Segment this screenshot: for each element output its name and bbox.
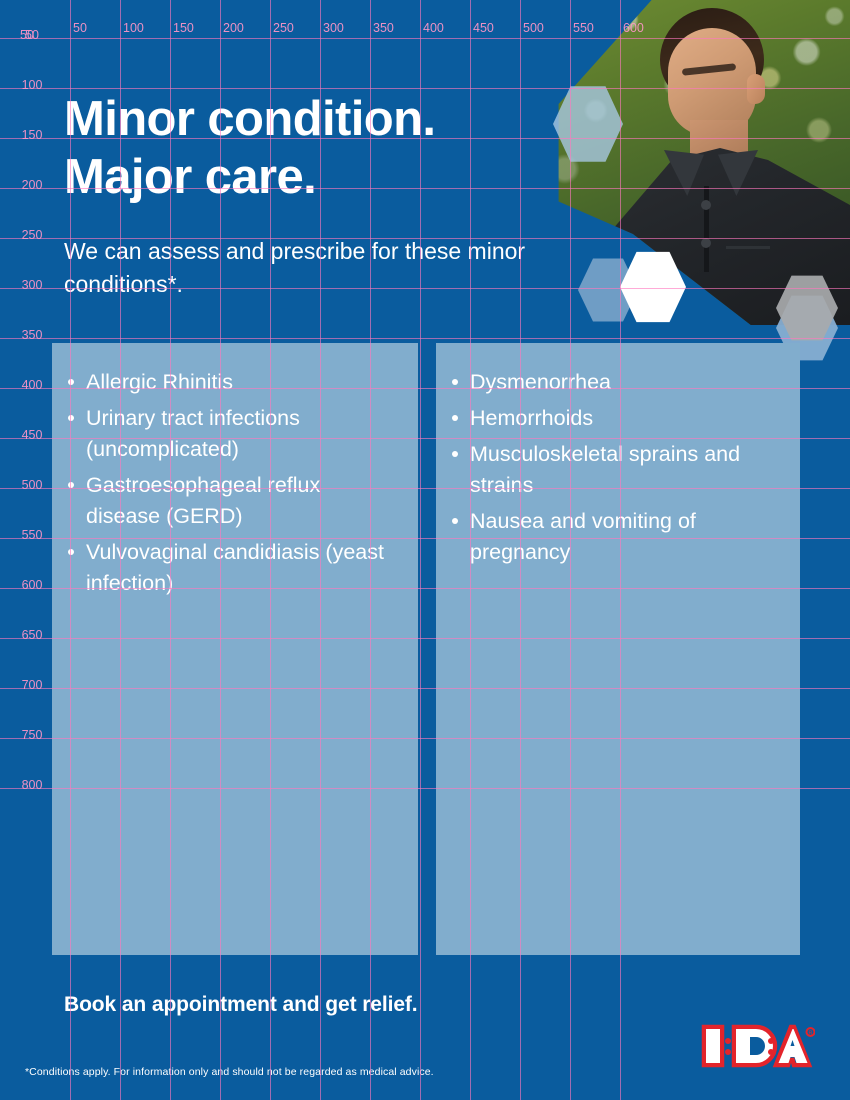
list-item: Gastroesophageal reflux disease (GERD) [66,470,400,532]
condition-label: Musculoskeletal sprains and strains [470,442,740,497]
grid-tick-y: 200 [22,178,43,192]
headline-line-1: Minor condition. [64,92,435,146]
list-item: Hemorrhoids [450,403,782,434]
list-item: Allergic Rhinitis [66,367,400,398]
shirt-button-bottom [701,238,711,248]
bullet-icon [452,451,458,457]
grid-tick-y: 400 [22,378,43,392]
list-item: Urinary tract infections (uncomplicated) [66,403,400,465]
grid-tick-x: 400 [423,21,444,35]
condition-label: Dysmenorrhea [470,370,611,394]
list-item: Dysmenorrhea [450,367,782,398]
condition-label: Nausea and vomiting of pregnancy [470,509,696,564]
shirt-placket [704,186,709,272]
grid-tick-x: 350 [373,21,394,35]
grid-tick-x: 100 [123,21,144,35]
poster-canvas: Minor condition. Major care. We can asse… [0,0,850,1100]
grid-tick-y: 500 [22,478,43,492]
subheading: We can assess and prescribe for these mi… [64,235,544,301]
grid-tick-x: 200 [223,21,244,35]
svg-text:R: R [809,1031,813,1037]
grid-tick-x: 50 [73,21,87,35]
bullet-icon [68,482,74,488]
call-to-action-text: Book an appointment and get relief. [64,993,418,1017]
grid-tick-y: 150 [22,128,43,142]
list-item: Musculoskeletal sprains and strains [450,439,782,501]
grid-line-horizontal [0,338,850,339]
grid-tick-y: 350 [22,328,43,342]
list-item: Vulvovaginal candidiasis (yeast infectio… [66,537,400,599]
grid-tick-y: 450 [22,428,43,442]
grid-tick-x: 150 [173,21,194,35]
grid-tick-y: 800 [22,778,43,792]
grid-tick-y: 700 [22,678,43,692]
conditions-list-left: Allergic RhinitisUrinary tract infection… [66,367,400,599]
condition-label: Hemorrhoids [470,406,593,430]
grid-tick-y: 50 [25,28,39,42]
grid-tick-y: 300 [22,278,43,292]
grid-tick-y: 650 [22,628,43,642]
condition-label: Gastroesophageal reflux disease (GERD) [86,473,320,528]
conditions-list-right: DysmenorrheaHemorrhoidsMusculoskeletal s… [450,367,782,568]
ear [747,74,765,104]
bullet-icon [452,379,458,385]
bullet-icon [68,549,74,555]
headline-line-2: Major care. [64,148,534,206]
shirt-button-top [701,200,711,210]
grid-tick-x: 450 [473,21,494,35]
disclaimer-text: *Conditions apply. For information only … [25,1066,434,1078]
grid-tick-x: 500 [523,21,544,35]
grid-tick-y: 250 [22,228,43,242]
bullet-icon [68,415,74,421]
conditions-panel-left: Allergic RhinitisUrinary tract infection… [52,343,418,955]
condition-label: Urinary tract infections (uncomplicated) [86,406,300,461]
grid-tick-y: 100 [22,78,43,92]
grid-tick-origin: 50 [20,28,34,42]
grid-tick-x: 250 [273,21,294,35]
condition-label: Allergic Rhinitis [86,370,233,394]
ida-logo: R [700,1022,815,1070]
grid-tick-x: 550 [573,21,594,35]
conditions-panel-right: DysmenorrheaHemorrhoidsMusculoskeletal s… [436,343,800,955]
bullet-icon [452,415,458,421]
grid-tick-y: 750 [22,728,43,742]
page-title: Minor condition. Major care. [64,90,534,206]
grid-tick-y: 550 [22,528,43,542]
list-item: Nausea and vomiting of pregnancy [450,506,782,568]
bullet-icon [68,379,74,385]
grid-tick-x: 300 [323,21,344,35]
grid-tick-y: 600 [22,578,43,592]
condition-label: Vulvovaginal candidiasis (yeast infectio… [86,540,384,595]
bullet-icon [452,518,458,524]
shirt-pocket [726,246,770,249]
